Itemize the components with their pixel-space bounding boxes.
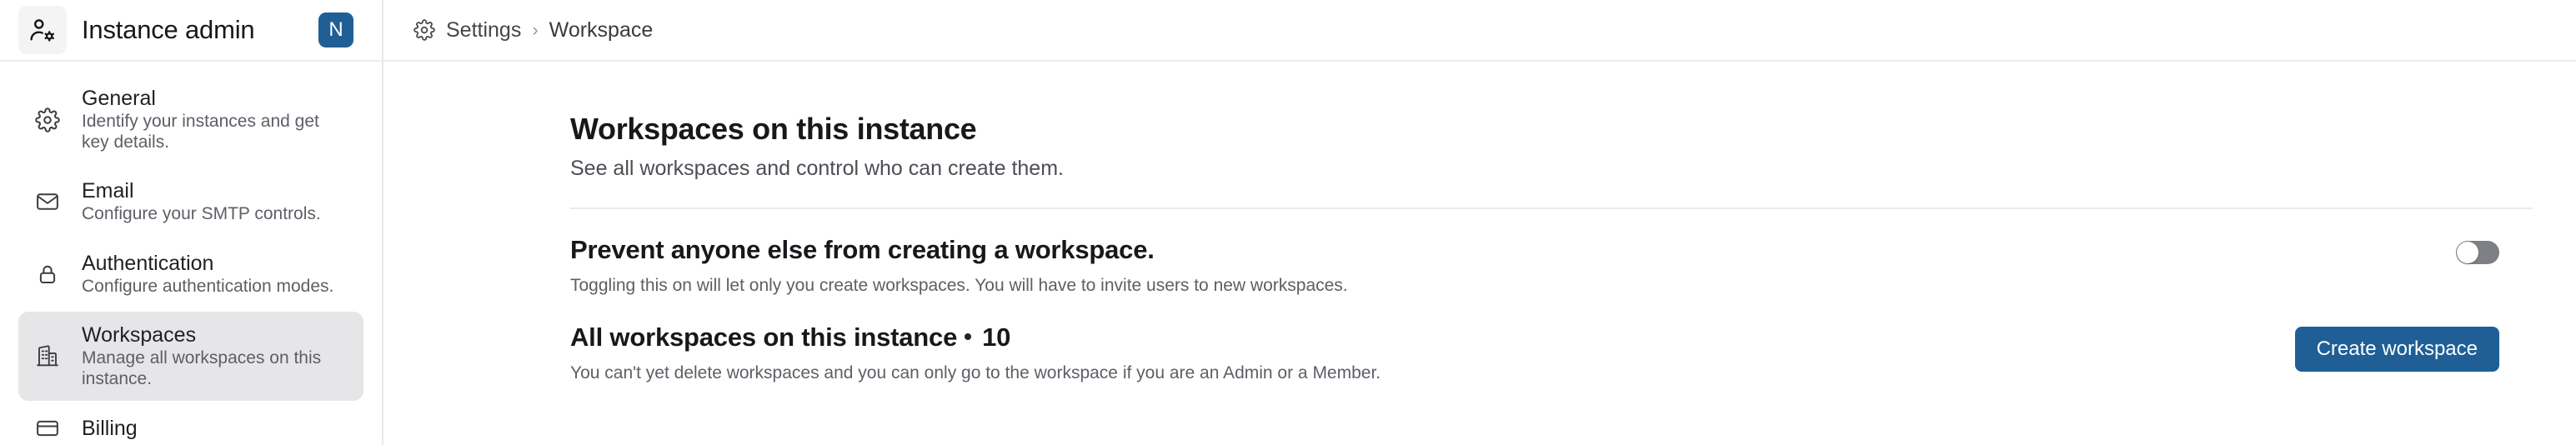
sidebar-item-text: Email Configure your SMTP controls. [82, 179, 321, 224]
sidebar-item-label: Billing [82, 417, 138, 440]
prevent-creation-section: Prevent anyone else from creating a work… [570, 209, 2533, 297]
user-gear-icon [18, 6, 67, 54]
page-subheading: See all workspaces and control who can c… [570, 155, 2533, 182]
credit-card-icon [30, 416, 65, 441]
sidebar-item-description: Identify your instances and get key deta… [82, 111, 340, 152]
all-workspaces-title-label: All workspaces on this instance [570, 322, 957, 352]
page-heading: Workspaces on this instance [570, 110, 2533, 147]
topbar: Settings › Workspace [383, 0, 2576, 62]
workspace-count-badge: 10 [982, 322, 1010, 352]
sidebar-item-text: Authentication Configure authentication … [82, 252, 333, 297]
sidebar-item-label: General [82, 87, 340, 110]
sidebar-nav: General Identify your instances and get … [0, 62, 382, 445]
toggle-knob [2457, 242, 2478, 263]
breadcrumb: Settings › Workspace [413, 18, 653, 42]
prevent-creation-description: Toggling this on will let only you creat… [570, 274, 1348, 297]
gear-icon [413, 19, 435, 41]
all-workspaces-text: All workspaces on this instance10 You ca… [570, 322, 1381, 384]
sidebar-item-description: Manage all workspaces on this instance. [82, 347, 340, 389]
app-root: Instance admin N General Identify your i… [0, 0, 2576, 445]
prevent-creation-text: Prevent anyone else from creating a work… [570, 234, 1348, 297]
all-workspaces-description: You can't yet delete workspaces and you … [570, 362, 1381, 384]
gear-icon [30, 107, 65, 132]
content-inner: Workspaces on this instance See all work… [527, 62, 2576, 384]
lock-icon [30, 262, 65, 287]
content-area: Workspaces on this instance See all work… [383, 62, 2576, 445]
sidebar-item-general[interactable]: General Identify your instances and get … [18, 75, 363, 164]
sidebar-item-label: Workspaces [82, 323, 340, 347]
building-icon [30, 343, 65, 368]
sidebar-item-label: Authentication [82, 252, 333, 275]
chevron-right-icon: › [532, 21, 538, 39]
dot-separator-icon [965, 333, 971, 340]
main-panel: Settings › Workspace Workspaces on this … [383, 0, 2576, 445]
all-workspaces-section: All workspaces on this instance10 You ca… [570, 297, 2533, 384]
sidebar-item-authentication[interactable]: Authentication Configure authentication … [18, 240, 363, 308]
all-workspaces-title: All workspaces on this instance10 [570, 322, 1381, 352]
envelope-icon [30, 189, 65, 214]
page-title: Instance admin [82, 15, 254, 45]
create-workspace-button[interactable]: Create workspace [2295, 327, 2499, 372]
sidebar-item-text: General Identify your instances and get … [82, 87, 340, 152]
sidebar-item-description: Configure your SMTP controls. [82, 203, 321, 224]
sidebar: Instance admin N General Identify your i… [0, 0, 383, 445]
breadcrumb-item-workspace[interactable]: Workspace [549, 18, 654, 42]
sidebar-item-billing[interactable]: Billing [18, 404, 363, 445]
sidebar-item-text: Workspaces Manage all workspaces on this… [82, 323, 340, 389]
prevent-creation-toggle[interactable] [2456, 241, 2499, 264]
avatar[interactable]: N [318, 12, 353, 47]
sidebar-item-text: Billing [82, 417, 138, 441]
sidebar-item-description: Configure authentication modes. [82, 276, 333, 297]
breadcrumb-item-settings[interactable]: Settings [446, 18, 521, 42]
sidebar-item-workspaces[interactable]: Workspaces Manage all workspaces on this… [18, 312, 363, 401]
prevent-creation-title: Prevent anyone else from creating a work… [570, 234, 1348, 265]
sidebar-item-email[interactable]: Email Configure your SMTP controls. [18, 167, 363, 236]
sidebar-item-label: Email [82, 179, 321, 202]
sidebar-header: Instance admin N [0, 0, 382, 62]
